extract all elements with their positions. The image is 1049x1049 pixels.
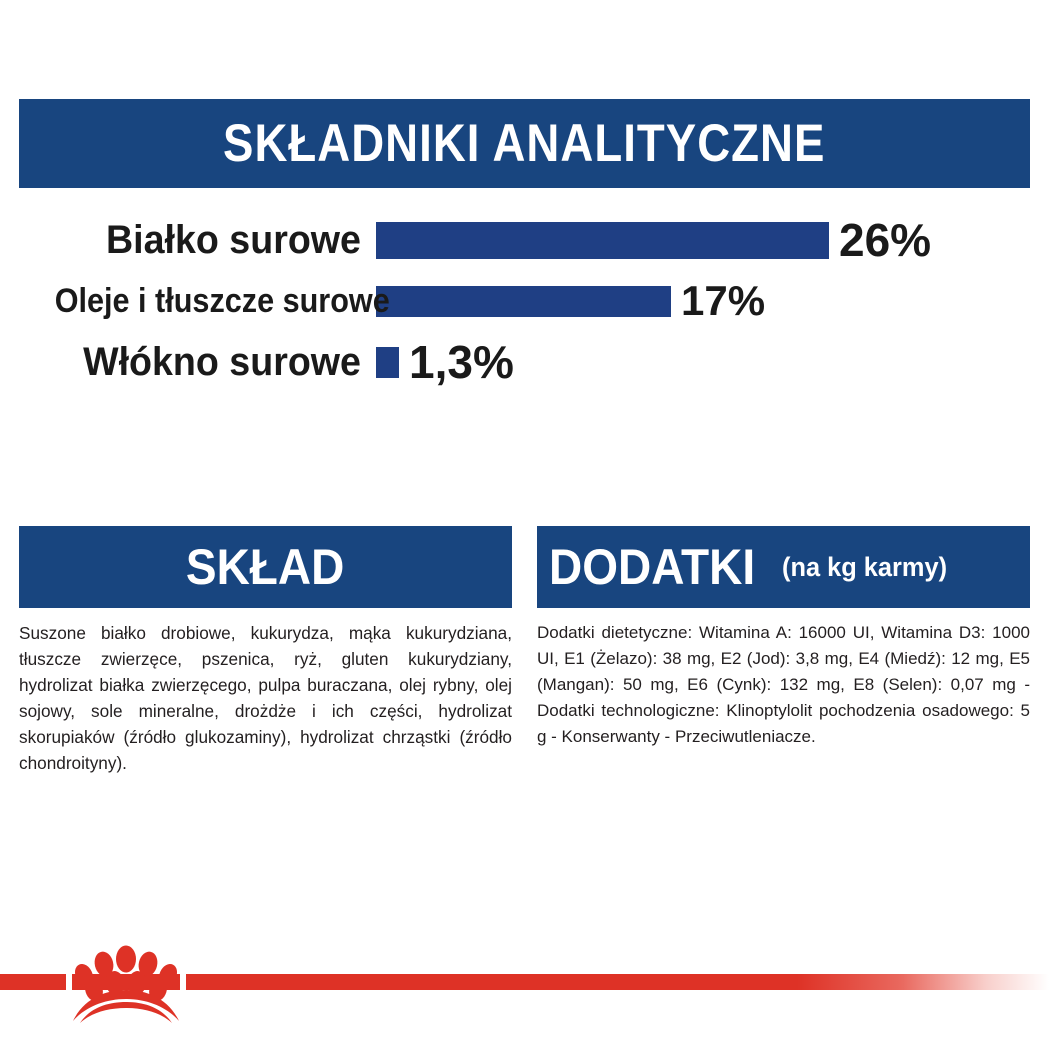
chart-bar-wrapper: 17%: [376, 280, 1030, 322]
page-root: SKŁADNIKI ANALITYCZNE Białko surowe 26% …: [0, 0, 1049, 1049]
chart-category-label: Oleje i tłuszcze surowe: [55, 284, 376, 318]
footer: [0, 930, 1049, 1049]
additives-heading: DODATKI: [549, 542, 755, 592]
additives-header: DODATKI (na kg karmy): [537, 526, 1030, 608]
chart-value-label: 26%: [829, 217, 931, 263]
additives-panel: DODATKI (na kg karmy) Dodatki dietetyczn…: [537, 526, 1030, 750]
additives-heading-subtitle: (na kg karmy): [782, 554, 947, 581]
chart-value-label: 1,3%: [399, 339, 514, 385]
chart-row: Białko surowe 26%: [19, 212, 1030, 268]
chart-bar-wrapper: 26%: [376, 217, 1030, 263]
analytical-constituents-chart: Białko surowe 26% Oleje i tłuszcze surow…: [19, 208, 1030, 398]
chart-bar: [376, 222, 829, 259]
chart-row: Włókno surowe 1,3%: [19, 334, 1030, 390]
page-title: SKŁADNIKI ANALITYCZNE: [223, 117, 825, 170]
composition-header: SKŁAD: [19, 526, 512, 608]
analytical-constituents-banner: SKŁADNIKI ANALITYCZNE: [19, 99, 1030, 188]
additives-text: Dodatki dietetyczne: Witamina A: 16000 U…: [537, 620, 1030, 750]
chart-value-label: 17%: [671, 280, 765, 322]
chart-category-label: Białko surowe: [40, 220, 376, 260]
chart-bar: [376, 347, 399, 378]
composition-heading: SKŁAD: [186, 542, 344, 592]
composition-panel: SKŁAD Suszone białko drobiowe, kukurydza…: [19, 526, 512, 776]
royal-canin-crown-logo: [66, 942, 186, 1024]
composition-text: Suszone białko drobiowe, kukurydza, mąka…: [19, 620, 512, 776]
chart-category-label: Włókno surowe: [40, 342, 376, 382]
chart-bar: [376, 286, 671, 317]
chart-row: Oleje i tłuszcze surowe 17%: [19, 276, 1030, 326]
chart-bar-wrapper: 1,3%: [376, 339, 1030, 385]
